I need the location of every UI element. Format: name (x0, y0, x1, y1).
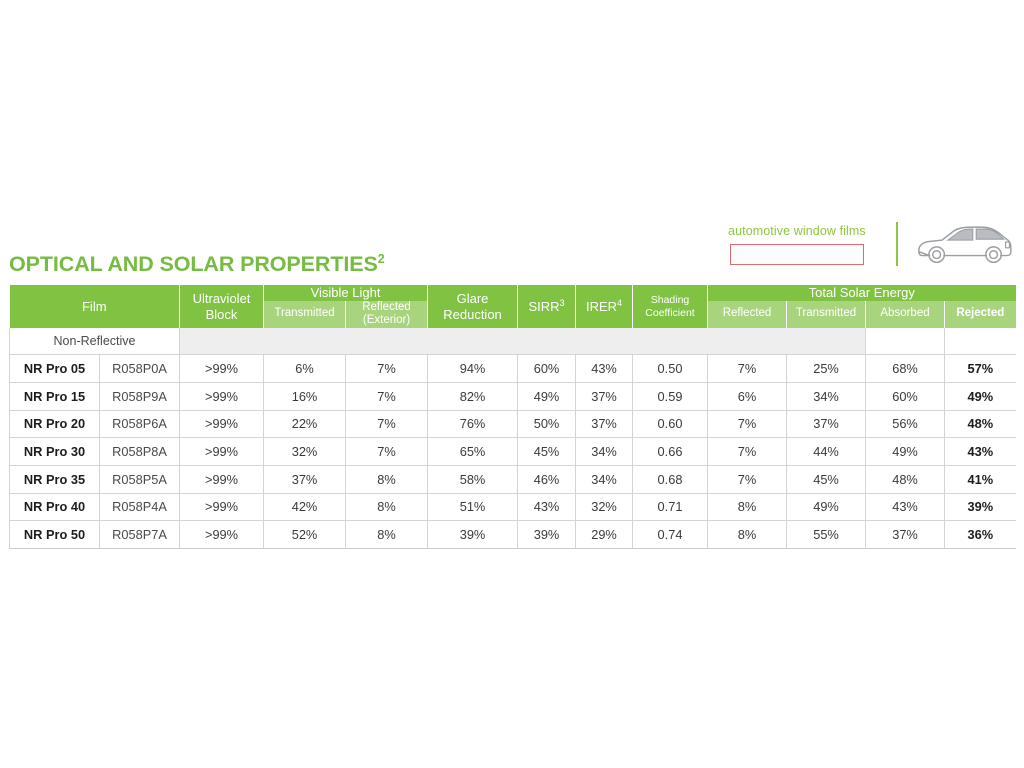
cell-tse-rejected: 39% (945, 493, 1016, 521)
cell-tse-rejected: 41% (945, 465, 1016, 493)
optical-solar-properties-table: Film Ultraviolet Block Visible Light Gla… (9, 285, 1016, 549)
col-header-film: Film (10, 285, 180, 328)
cell-tse-absorbed: 48% (866, 465, 945, 493)
col-header-sirr-label: SIRR (529, 299, 560, 314)
cell-sirr: 50% (518, 410, 576, 438)
cell-ultraviolet-block: >99% (180, 382, 264, 410)
cell-vl-transmitted: 37% (264, 465, 346, 493)
cell-glare-reduction: 51% (428, 493, 518, 521)
cell-glare-reduction: 58% (428, 465, 518, 493)
cell-shading-coefficient: 0.74 (633, 521, 708, 549)
cell-tse-absorbed: 43% (866, 493, 945, 521)
cell-film-name: NR Pro 30 (10, 438, 100, 466)
cell-film-code: R058P5A (100, 465, 180, 493)
cell-glare-reduction: 76% (428, 410, 518, 438)
col-header-ultraviolet-block: Ultraviolet Block (180, 285, 264, 328)
cell-tse-transmitted: 55% (787, 521, 866, 549)
cell-vl-reflected: 7% (346, 382, 428, 410)
cell-tse-transmitted: 37% (787, 410, 866, 438)
col-subheader-vl-reflected-exterior: Reflected (Exterior) (346, 301, 428, 329)
cell-tse-reflected: 7% (708, 355, 787, 383)
cell-ultraviolet-block: >99% (180, 521, 264, 549)
cell-shading-coefficient: 0.71 (633, 493, 708, 521)
cell-tse-reflected: 6% (708, 382, 787, 410)
col-header-visible-light: Visible Light (264, 285, 428, 301)
cell-film-code: R058P9A (100, 382, 180, 410)
cell-vl-transmitted: 32% (264, 438, 346, 466)
cell-irer: 37% (576, 410, 633, 438)
cell-vl-transmitted: 42% (264, 493, 346, 521)
table-row: NR Pro 05R058P0A>99%6%7%94%60%43%0.507%2… (10, 355, 1016, 383)
table-section-blank-absorbed (866, 328, 945, 355)
col-header-irer: IRER4 (576, 285, 633, 328)
table-row: NR Pro 20R058P6A>99%22%7%76%50%37%0.607%… (10, 410, 1016, 438)
cell-shading-coefficient: 0.66 (633, 438, 708, 466)
cell-sirr: 60% (518, 355, 576, 383)
cell-glare-reduction: 94% (428, 355, 518, 383)
cell-ultraviolet-block: >99% (180, 465, 264, 493)
cell-vl-reflected: 7% (346, 410, 428, 438)
table-row: NR Pro 35R058P5A>99%37%8%58%46%34%0.687%… (10, 465, 1016, 493)
col-subheader-tse-rejected: Rejected (945, 301, 1016, 329)
cell-glare-reduction: 82% (428, 382, 518, 410)
table-body: Non-Reflective NR Pro 05R058P0A>99%6%7%9… (10, 328, 1016, 548)
table-section-label: Non-Reflective (10, 328, 180, 355)
cell-film-code: R058P8A (100, 438, 180, 466)
brand-logo-placeholder (730, 244, 864, 265)
col-subheader-tse-absorbed: Absorbed (866, 301, 945, 329)
cell-tse-rejected: 48% (945, 410, 1016, 438)
table-header-row-top: Film Ultraviolet Block Visible Light Gla… (10, 285, 1016, 301)
cell-sirr: 49% (518, 382, 576, 410)
cell-irer: 32% (576, 493, 633, 521)
cell-tse-reflected: 8% (708, 493, 787, 521)
cell-glare-reduction: 65% (428, 438, 518, 466)
page-title-footnote: 2 (378, 252, 385, 266)
cell-tse-reflected: 7% (708, 410, 787, 438)
cell-vl-transmitted: 22% (264, 410, 346, 438)
cell-tse-absorbed: 56% (866, 410, 945, 438)
page-title-text: OPTICAL AND SOLAR PROPERTIES (9, 252, 378, 276)
brand-header: automotive window films (714, 213, 1014, 275)
table-row: NR Pro 40R058P4A>99%42%8%51%43%32%0.718%… (10, 493, 1016, 521)
col-header-sirr-footnote: 3 (560, 298, 565, 308)
cell-ultraviolet-block: >99% (180, 410, 264, 438)
cell-vl-transmitted: 16% (264, 382, 346, 410)
cell-tse-transmitted: 44% (787, 438, 866, 466)
cell-film-code: R058P4A (100, 493, 180, 521)
col-header-shading-coefficient: Shading Coefficient (633, 285, 708, 328)
cell-tse-transmitted: 25% (787, 355, 866, 383)
table-row: NR Pro 50R058P7A>99%52%8%39%39%29%0.748%… (10, 521, 1016, 549)
cell-irer: 37% (576, 382, 633, 410)
car-side-icon (914, 220, 1014, 268)
cell-vl-reflected: 8% (346, 493, 428, 521)
table-row: NR Pro 15R058P9A>99%16%7%82%49%37%0.596%… (10, 382, 1016, 410)
cell-tse-absorbed: 37% (866, 521, 945, 549)
cell-tse-absorbed: 60% (866, 382, 945, 410)
cell-film-name: NR Pro 50 (10, 521, 100, 549)
table-row: NR Pro 30R058P8A>99%32%7%65%45%34%0.667%… (10, 438, 1016, 466)
col-header-total-solar-energy: Total Solar Energy (708, 285, 1016, 301)
cell-film-code: R058P7A (100, 521, 180, 549)
cell-sirr: 45% (518, 438, 576, 466)
brand-text-block: automotive window films (714, 224, 880, 265)
cell-tse-absorbed: 49% (866, 438, 945, 466)
table-section-fill (180, 328, 866, 355)
cell-film-code: R058P6A (100, 410, 180, 438)
cell-glare-reduction: 39% (428, 521, 518, 549)
cell-tse-rejected: 36% (945, 521, 1016, 549)
col-subheader-tse-reflected: Reflected (708, 301, 787, 329)
cell-sirr: 39% (518, 521, 576, 549)
col-header-irer-label: IRER (586, 299, 617, 314)
cell-sirr: 46% (518, 465, 576, 493)
cell-tse-transmitted: 45% (787, 465, 866, 493)
cell-ultraviolet-block: >99% (180, 355, 264, 383)
cell-vl-reflected: 7% (346, 355, 428, 383)
cell-tse-transmitted: 34% (787, 382, 866, 410)
cell-tse-rejected: 49% (945, 382, 1016, 410)
cell-film-code: R058P0A (100, 355, 180, 383)
brand-tagline: automotive window films (728, 224, 866, 239)
col-subheader-vl-transmitted: Transmitted (264, 301, 346, 329)
cell-shading-coefficient: 0.50 (633, 355, 708, 383)
brand-divider (896, 222, 898, 266)
table-section-row-non-reflective: Non-Reflective (10, 328, 1016, 355)
cell-vl-transmitted: 52% (264, 521, 346, 549)
cell-irer: 34% (576, 438, 633, 466)
cell-shading-coefficient: 0.59 (633, 382, 708, 410)
cell-tse-reflected: 7% (708, 438, 787, 466)
cell-tse-absorbed: 68% (866, 355, 945, 383)
cell-film-name: NR Pro 40 (10, 493, 100, 521)
cell-shading-coefficient: 0.68 (633, 465, 708, 493)
col-header-glare-reduction: Glare Reduction (428, 285, 518, 328)
cell-vl-reflected: 7% (346, 438, 428, 466)
table-header: Film Ultraviolet Block Visible Light Gla… (10, 285, 1016, 328)
col-header-irer-footnote: 4 (617, 298, 622, 308)
cell-film-name: NR Pro 35 (10, 465, 100, 493)
col-subheader-tse-transmitted: Transmitted (787, 301, 866, 329)
col-header-sirr: SIRR3 (518, 285, 576, 328)
cell-tse-transmitted: 49% (787, 493, 866, 521)
cell-shading-coefficient: 0.60 (633, 410, 708, 438)
cell-film-name: NR Pro 15 (10, 382, 100, 410)
cell-tse-rejected: 57% (945, 355, 1016, 383)
cell-irer: 34% (576, 465, 633, 493)
cell-tse-reflected: 8% (708, 521, 787, 549)
cell-tse-rejected: 43% (945, 438, 1016, 466)
cell-sirr: 43% (518, 493, 576, 521)
cell-film-name: NR Pro 05 (10, 355, 100, 383)
cell-vl-reflected: 8% (346, 521, 428, 549)
cell-irer: 43% (576, 355, 633, 383)
cell-irer: 29% (576, 521, 633, 549)
cell-ultraviolet-block: >99% (180, 493, 264, 521)
cell-vl-reflected: 8% (346, 465, 428, 493)
cell-vl-transmitted: 6% (264, 355, 346, 383)
cell-ultraviolet-block: >99% (180, 438, 264, 466)
table-section-blank-rejected (945, 328, 1016, 355)
cell-tse-reflected: 7% (708, 465, 787, 493)
cell-film-name: NR Pro 20 (10, 410, 100, 438)
page-title: OPTICAL AND SOLAR PROPERTIES2 (9, 252, 385, 277)
